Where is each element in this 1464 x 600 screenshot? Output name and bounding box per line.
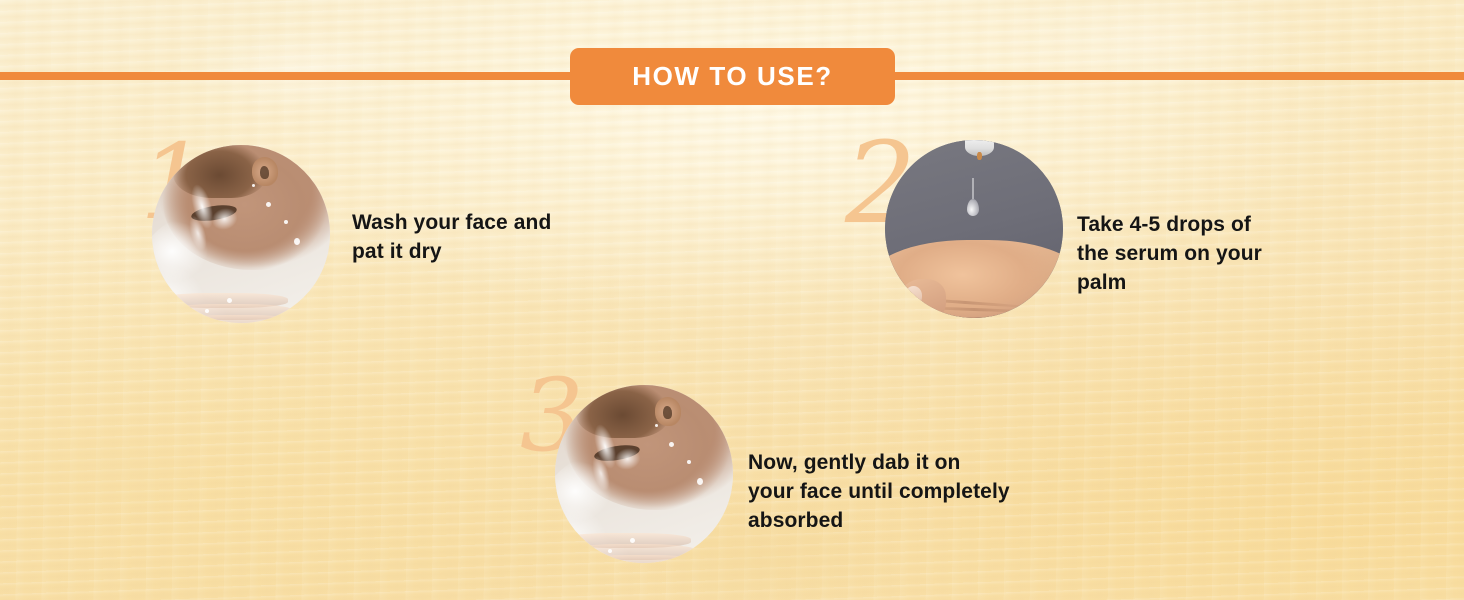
step-2-text: Take 4-5 drops of the serum on your palm: [1077, 210, 1292, 297]
step-3-text-line-1: Now, gently dab it on: [748, 448, 1048, 477]
step-1-text-line-2: pat it dry: [352, 237, 592, 266]
step-3: 3: [520, 368, 1050, 568]
step-2: 2 Take 4-5 drops of the serum: [845, 130, 1315, 330]
step-3-text-line-2: your face until completely: [748, 477, 1048, 506]
wash-face-photo: [152, 145, 330, 323]
step-3-text-line-3: absorbed: [748, 506, 1048, 535]
how-to-use-banner: HOW TO USE? 1: [0, 0, 1464, 600]
step-2-text-line-3: palm: [1077, 268, 1292, 297]
step-3-text: Now, gently dab it on your face until co…: [748, 448, 1048, 535]
step-2-text-line-1: Take 4-5 drops of: [1077, 210, 1292, 239]
dab-face-photo: [555, 385, 733, 563]
step-1: 1: [140, 130, 610, 330]
step-1-media: 1: [140, 130, 340, 330]
step-3-media: 3: [520, 368, 720, 568]
serum-drop-on-palm-photo: [885, 140, 1063, 318]
step-2-media: 2: [845, 130, 1045, 330]
step-1-text: Wash your face and pat it dry: [352, 208, 592, 266]
step-1-text-line-1: Wash your face and: [352, 208, 592, 237]
page-title: HOW TO USE?: [632, 61, 833, 92]
step-2-text-line-2: the serum on your: [1077, 239, 1292, 268]
header-banner: HOW TO USE?: [570, 48, 895, 105]
